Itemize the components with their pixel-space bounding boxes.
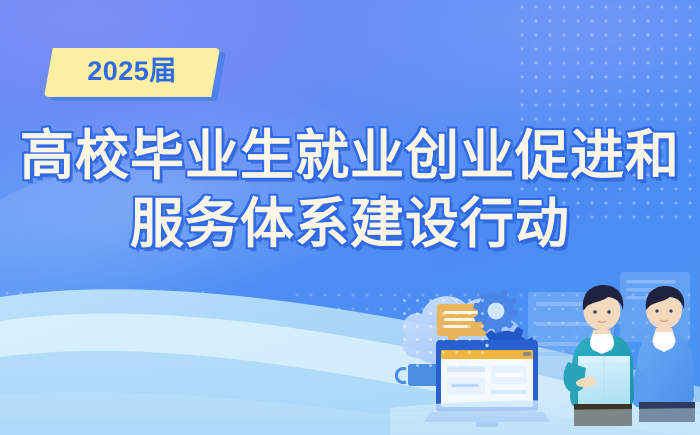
page-title: 高校毕业生就业创业促进和 服务体系建设行动 [0,126,700,255]
page-title-line-2: 服务体系建设行动 [0,194,700,254]
glass-reflection [390,408,700,435]
banner-root: 2025届 高校毕业生就业创业促进和 服务体系建设行动 [0,0,700,435]
year-badge-body: 2025届 [44,48,220,97]
year-badge: 2025届 [44,48,220,97]
page-title-line-1: 高校毕业生就业创业促进和 [0,126,700,186]
dot-pattern-illustration [398,294,484,370]
year-badge-label: 2025届 [87,58,177,85]
